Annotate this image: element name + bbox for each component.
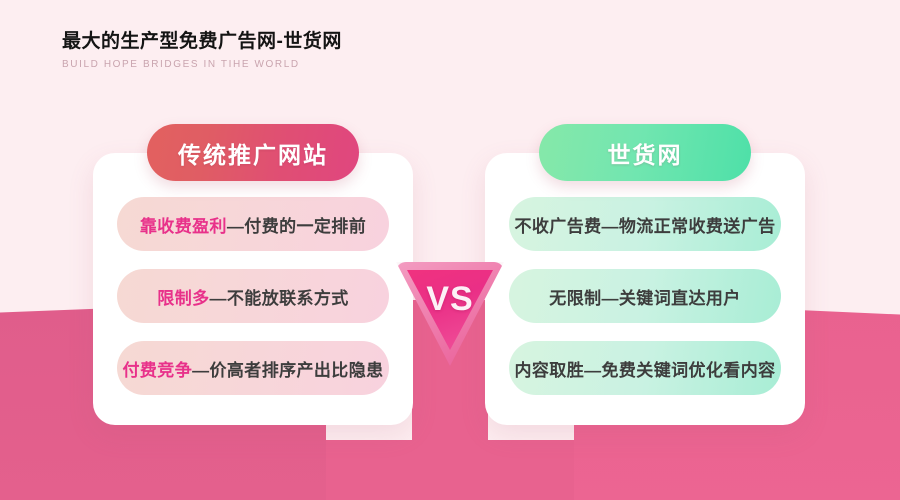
list-item-rest: —付费的一定排前 [227, 217, 366, 236]
header: 最大的生产型免费广告网-世货网 BUILD HOPE BRIDGES IN TI… [62, 30, 342, 70]
feature-card-left: 靠收费盈利—付费的一定排前 限制多—不能放联系方式 付费竞争—价高者排序产出比隐… [93, 153, 413, 425]
page-title: 最大的生产型免费广告网-世货网 [62, 30, 342, 54]
list-item-rest: —价高者排序产出比隐患 [192, 361, 383, 380]
column-heading-label: 传统推广网站 [178, 136, 328, 170]
list-item-text: 内容取胜—免费关键词优化看内容 [515, 356, 776, 381]
comparison-column-left: 传统推广网站 靠收费盈利—付费的一定排前 限制多—不能放联系方式 付费竞争—价高… [93, 124, 413, 425]
background-bottom-band [0, 440, 900, 500]
list-item[interactable]: 无限制—关键词直达用户 [509, 269, 781, 323]
list-item[interactable]: 靠收费盈利—付费的一定排前 [117, 197, 389, 251]
column-heading-shihuo[interactable]: 世货网 [539, 124, 751, 181]
list-item[interactable]: 内容取胜—免费关键词优化看内容 [509, 341, 781, 395]
page-subtitle: BUILD HOPE BRIDGES IN TIHE WORLD [62, 59, 342, 70]
vs-badge-label: VS [396, 280, 504, 319]
list-item[interactable]: 付费竞争—价高者排序产出比隐患 [117, 341, 389, 395]
list-item-highlight: 靠收费盈利 [140, 217, 227, 236]
column-heading-label: 世货网 [608, 136, 683, 170]
vs-badge: VS [396, 262, 504, 366]
list-item-text: 付费竞争—价高者排序产出比隐患 [123, 356, 384, 381]
list-item-rest: —不能放联系方式 [210, 289, 349, 308]
list-item-text: 无限制—关键词直达用户 [549, 284, 740, 309]
list-item-text: 靠收费盈利—付费的一定排前 [140, 212, 366, 237]
list-item-text: 不收广告费—物流正常收费送广告 [515, 212, 776, 237]
list-item-rest: 无限制—关键词直达用户 [549, 289, 740, 308]
column-heading-traditional[interactable]: 传统推广网站 [147, 124, 359, 181]
comparison-column-right: 世货网 不收广告费—物流正常收费送广告 无限制—关键词直达用户 内容取胜—免费关… [485, 124, 805, 425]
list-item[interactable]: 不收广告费—物流正常收费送广告 [509, 197, 781, 251]
list-item[interactable]: 限制多—不能放联系方式 [117, 269, 389, 323]
list-item-rest: 内容取胜—免费关键词优化看内容 [515, 361, 776, 380]
slide-canvas: 最大的生产型免费广告网-世货网 BUILD HOPE BRIDGES IN TI… [0, 0, 900, 500]
list-item-highlight: 付费竞争 [123, 361, 193, 380]
list-item-highlight: 限制多 [157, 289, 209, 308]
feature-card-right: 不收广告费—物流正常收费送广告 无限制—关键词直达用户 内容取胜—免费关键词优化… [485, 153, 805, 425]
list-item-text: 限制多—不能放联系方式 [157, 284, 348, 309]
list-item-rest: 不收广告费—物流正常收费送广告 [515, 217, 776, 236]
